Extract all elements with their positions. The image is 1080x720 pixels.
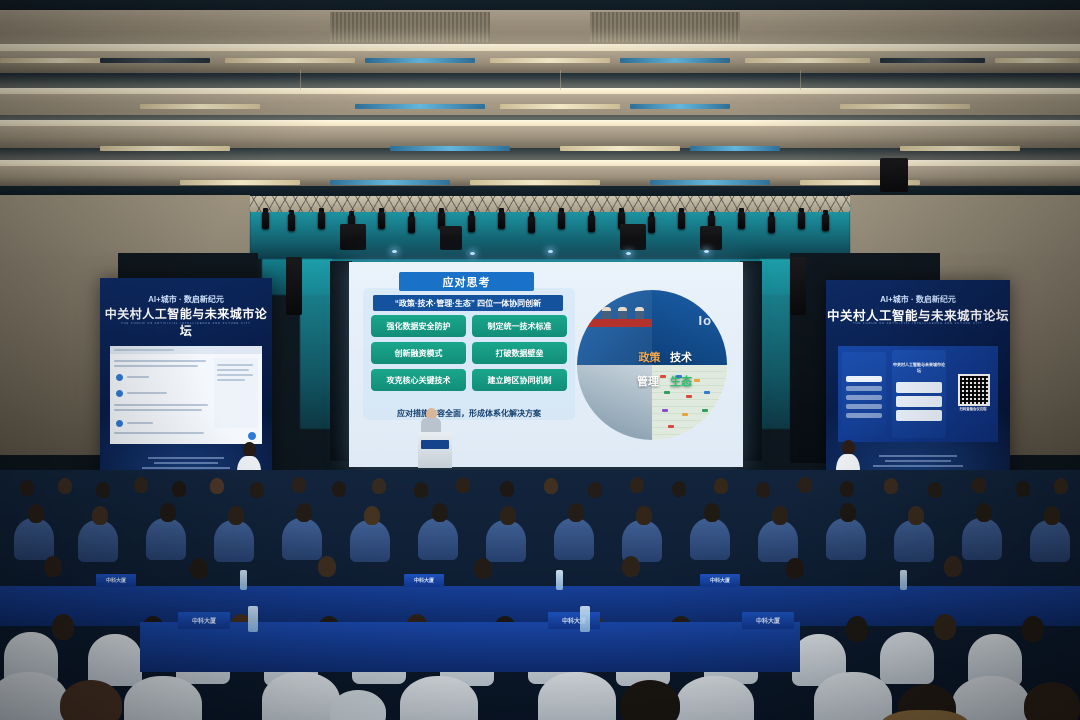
water-bottle: [248, 606, 258, 632]
chair: [826, 518, 866, 560]
table-name-card: 中科大厦: [742, 612, 794, 629]
table-name-card: 中科大厦: [96, 574, 136, 587]
chair: [554, 518, 594, 560]
audience-row-2: [0, 500, 1080, 560]
attendee-body: [880, 710, 970, 720]
attendee-head: [60, 680, 122, 720]
slide-measure-box: 攻克核心关键技术: [371, 369, 466, 391]
presentation-slide: 应对思考 “政策·技术·管理·生态” 四位一体协同创新 强化数据安全防护 制定统…: [349, 262, 743, 467]
slide-measure-box: 制定统一技术标准: [472, 315, 567, 337]
slide-title: 应对思考: [399, 272, 534, 291]
audience-area: 中科大厦 中科大厦 中科大厦: [0, 470, 1080, 720]
banner-left-pretitle: AI+城市 · 数启新纪元: [100, 294, 272, 305]
table-name-card: 中科大厦: [178, 612, 230, 629]
attendee-head: [1024, 682, 1080, 720]
chair: [282, 518, 322, 560]
quadrant-label-management: 管理: [637, 373, 659, 389]
table-name-card: 中科大厦: [700, 574, 740, 587]
audience-row-nearest: [0, 680, 1080, 720]
slide-measure-box: 打破数据壁垒: [472, 342, 567, 364]
lighting-truss: [250, 196, 850, 212]
table-name-card: 中科大厦: [404, 574, 444, 587]
ceiling: [0, 0, 1080, 200]
ceiling-speaker: [880, 158, 908, 192]
conference-hall-photo: 应对思考 “政策·技术·管理·生态” 四位一体协同创新 强化数据安全防护 制定统…: [0, 0, 1080, 720]
attendee-head: [330, 690, 386, 720]
standing-attendee-head: [842, 440, 855, 455]
quadrant-label-ecology: 生态: [670, 373, 692, 389]
podium: [418, 432, 452, 468]
chair: [14, 518, 54, 560]
slide-measure-box: 建立跨区协同机制: [472, 369, 567, 391]
podium-sign: [421, 440, 449, 449]
water-bottle: [900, 570, 907, 590]
line-array-speaker-left: [286, 257, 302, 315]
slide-measure-box: 强化数据安全防护: [371, 315, 466, 337]
draped-table: [140, 622, 800, 672]
banner-right-english: THE FORUM ON ARTIFICIAL INTELLIGENCE AND…: [826, 322, 1010, 325]
chair: [418, 518, 458, 560]
water-bottle: [556, 570, 563, 590]
banner-left-screenshot: [110, 346, 262, 444]
banner-left-english: THE FORUM ON ARTIFICIAL INTELLIGENCE AND…: [100, 322, 272, 325]
led-stage-screen: 应对思考 “政策·技术·管理·生态” 四位一体协同创新 强化数据安全防护 制定统…: [349, 262, 743, 467]
qr-code: [958, 374, 990, 406]
water-bottle: [580, 606, 590, 632]
attendee-head: [620, 680, 680, 720]
water-bottle: [240, 570, 247, 590]
audience-table-row-front: 中科大厦 中科大厦 中科大厦: [0, 612, 1080, 672]
slide-caption: 应对措施内容全面，形成体系化解决方案: [371, 408, 567, 419]
line-array-speaker-right: [790, 257, 806, 315]
standing-attendee-head: [243, 442, 256, 457]
slide-measure-box: 创新融资模式: [371, 342, 466, 364]
chair: [690, 518, 730, 560]
chair: [962, 518, 1002, 560]
banner-right-pretitle: AI+城市 · 数启新纪元: [826, 294, 1010, 305]
banner-right-panel-title: 中关村人工智能与未来城市论坛: [892, 362, 946, 374]
slide-circular-infographic: IoT 政策 技术: [577, 290, 727, 440]
banner-right-screenshot: 中关村人工智能与未来城市论坛 扫码查看会议议程: [838, 346, 998, 442]
qr-code-label: 扫码查看会议议程: [950, 406, 996, 411]
quadrant-label-technology: 技术: [670, 349, 692, 365]
table-name-card: 中科大厦: [548, 612, 600, 629]
chair: [146, 518, 186, 560]
slide-subtitle: “政策·技术·管理·生态” 四位一体协同创新: [373, 295, 563, 311]
quadrant-label-policy: 政策: [639, 349, 661, 365]
slide-measure-grid: 强化数据安全防护 制定统一技术标准 创新融资模式 打破数据壁垒 攻克核心关键技术…: [371, 315, 567, 391]
